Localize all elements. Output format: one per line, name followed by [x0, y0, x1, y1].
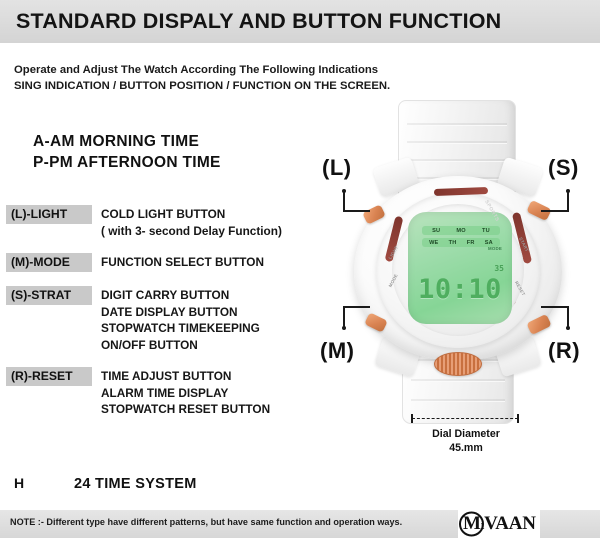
brand-letters-vaan: VAAN	[484, 513, 536, 534]
lcd-day: WE	[429, 240, 438, 246]
leader-line-light-horizontal	[343, 210, 370, 212]
callout-start: (S)	[548, 155, 579, 181]
leader-line-reset-horizontal	[541, 306, 569, 308]
dial-diameter-value: 45.mm	[388, 441, 544, 455]
lcd-day: TH	[449, 240, 457, 246]
function-row-start: (S)-STRAT DIGIT CARRY BUTTON DATE DISPLA…	[6, 286, 326, 353]
function-key-start: (S)-STRAT	[6, 286, 92, 305]
dial-diameter-title: Dial Diameter	[388, 427, 544, 441]
page-title: STANDARD DISPALY AND BUTTON FUNCTION	[0, 9, 501, 34]
watch-case-back-crown	[434, 352, 482, 376]
leader-line-mode-horizontal	[343, 306, 370, 308]
am-legend-line: A-AM MORNING TIME	[33, 131, 221, 152]
dimension-dashed-line	[412, 418, 518, 419]
lcd-time-value: 10:10	[416, 262, 504, 316]
dimension-cap-right	[517, 414, 519, 423]
lcd-day: TU	[482, 228, 490, 234]
header-bar: STANDARD DISPALY AND BUTTON FUNCTION	[0, 0, 600, 43]
dial-diameter-label: Dial Diameter 45.mm	[388, 427, 544, 455]
watch-illustration: SU MO TU WE TH FR SA MODE 10:10 35 LIGHT…	[330, 100, 590, 430]
footer-note: NOTE :- Different type have different pa…	[10, 517, 402, 527]
function-list: (L)-LIGHT COLD LIGHT BUTTON ( with 3- se…	[6, 205, 326, 432]
function-desc-line: STOPWATCH RESET BUTTON	[101, 401, 270, 418]
lcd-seconds-value: 35	[494, 264, 504, 273]
time-system-key: H	[14, 475, 74, 491]
lcd-mode-label: MODE	[488, 246, 502, 251]
lcd-day: SU	[432, 228, 440, 234]
lcd-day: SA	[485, 240, 493, 246]
leader-line-reset-vertical	[567, 306, 569, 328]
lcd-day-row-1: SU MO TU	[422, 226, 500, 235]
dial-diameter-dimension-line	[408, 414, 522, 424]
function-desc-line: COLD LIGHT BUTTON	[101, 206, 282, 223]
function-desc-line: ON/OFF BUTTON	[101, 337, 260, 354]
function-desc-reset: TIME ADJUST BUTTON ALARM TIME DISPLAY ST…	[101, 367, 270, 418]
function-row-mode: (M)-MODE FUNCTION SELECT BUTTON	[6, 253, 326, 272]
callout-reset: (R)	[548, 338, 580, 364]
time-system-row: H 24 TIME SYSTEM	[14, 475, 197, 492]
callout-mode: (M)	[320, 338, 354, 364]
intro-text: Operate and Adjust The Watch According T…	[14, 62, 414, 94]
brand-name: MiVAAN	[462, 513, 536, 535]
watch-lcd-screen: SU MO TU WE TH FR SA MODE 10:10 35	[408, 212, 512, 324]
function-desc-line: ALARM TIME DISPLAY	[101, 385, 270, 402]
brand-mark: MiVAAN	[462, 513, 536, 535]
leader-line-light-vertical	[343, 191, 345, 212]
function-desc-line: STOPWATCH TIMEKEEPING	[101, 320, 260, 337]
function-row-light: (L)-LIGHT COLD LIGHT BUTTON ( with 3- se…	[6, 205, 326, 239]
am-pm-legend: A-AM MORNING TIME P-PM AFTERNOON TIME	[33, 131, 221, 173]
pm-legend-line: P-PM AFTERNOON TIME	[33, 152, 221, 173]
callout-light: (L)	[322, 155, 352, 181]
function-desc-line: FUNCTION SELECT BUTTON	[101, 254, 264, 271]
function-key-reset: (R)-RESET	[6, 367, 92, 386]
watch-instruction-page: STANDARD DISPALY AND BUTTON FUNCTION Ope…	[0, 0, 600, 546]
lcd-day: FR	[467, 240, 475, 246]
function-desc-line: DIGIT CARRY BUTTON	[101, 287, 260, 304]
function-desc-line: DATE DISPLAY BUTTON	[101, 304, 260, 321]
function-key-light: (L)-LIGHT	[6, 205, 92, 224]
leader-line-start-vertical	[567, 191, 569, 212]
intro-line-2: SING INDICATION / BUTTON POSITION / FUNC…	[14, 78, 414, 94]
function-key-mode: (M)-MODE	[6, 253, 92, 272]
function-desc-mode: FUNCTION SELECT BUTTON	[101, 253, 264, 271]
intro-line-1: Operate and Adjust The Watch According T…	[14, 62, 414, 78]
function-desc-line: TIME ADJUST BUTTON	[101, 368, 270, 385]
brand-logo: MiVAAN	[458, 509, 540, 539]
function-desc-line: ( with 3- second Delay Function)	[101, 223, 282, 240]
leader-line-mode-vertical	[343, 306, 345, 328]
brand-letter-m: M	[463, 513, 481, 534]
time-system-value: 24 TIME SYSTEM	[74, 476, 197, 492]
function-desc-light: COLD LIGHT BUTTON ( with 3- second Delay…	[101, 205, 282, 239]
leader-line-start-horizontal	[541, 210, 569, 212]
function-row-reset: (R)-RESET TIME ADJUST BUTTON ALARM TIME …	[6, 367, 326, 418]
function-desc-start: DIGIT CARRY BUTTON DATE DISPLAY BUTTON S…	[101, 286, 260, 353]
lcd-day: MO	[456, 228, 465, 234]
